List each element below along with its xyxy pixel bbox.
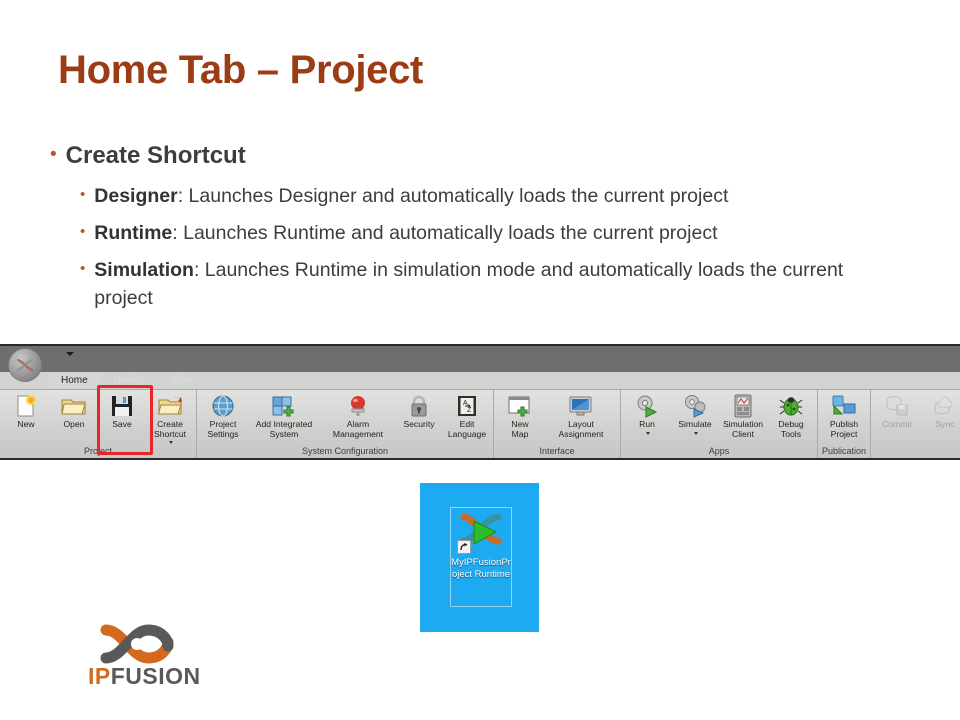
bullet-dot-icon: • [80, 182, 85, 208]
bullet-body: : Launches Runtime and automatically loa… [172, 222, 717, 244]
alarm-bell-icon [345, 393, 371, 419]
ribbon-button-layout-assignment[interactable]: Layout Assignment [544, 390, 618, 439]
desktop-screenshot: MyIPFusionProject Runtime [420, 483, 539, 632]
ribbon-tabs: Home Design View [48, 372, 205, 389]
ipfusion-logo-mark: IPFUSION [88, 624, 206, 690]
bullet-level2: • Runtime: Launches Runtime and automati… [80, 219, 930, 247]
bullet-level2: • Designer: Launches Designer and automa… [80, 182, 930, 210]
ribbon-group-publication: Publish Project Publication [818, 390, 871, 460]
ribbon-button-label: New Map [511, 420, 528, 439]
new-map-icon [507, 393, 533, 419]
ipfusion-runtime-shortcut-icon [457, 511, 505, 555]
bullet-list: • Create Shortcut • Designer: Launches D… [50, 142, 930, 321]
bullet-level2: • Simulation: Launches Runtime in simula… [80, 256, 930, 312]
ribbon-button-security[interactable]: Security [395, 390, 443, 430]
ribbon-group-apps: Run Simulate [621, 390, 818, 460]
bullet-level1: • Create Shortcut [50, 142, 930, 170]
bullet-level2-text: Simulation: Launches Runtime in simulati… [94, 256, 904, 312]
ribbon-button-project-settings[interactable]: Project Settings [199, 390, 247, 439]
ribbon-button-label: Sync [935, 420, 954, 430]
ribbon-button-new[interactable]: New [2, 390, 50, 430]
ribbon-group-project: New Open [0, 390, 197, 460]
bug-icon [778, 393, 804, 419]
quick-access-caret-icon[interactable] [66, 352, 74, 356]
create-shortcut-icon [157, 393, 183, 419]
ribbon-button-simulate[interactable]: Simulate [671, 390, 719, 436]
padlock-icon [406, 393, 432, 419]
ribbon-button-alarm-management[interactable]: Alarm Management [321, 390, 395, 439]
ribbon-button-debug-tools[interactable]: Debug Tools [767, 390, 815, 439]
ribbon-button-label: Layout Assignment [559, 420, 604, 439]
ribbon-button-label: Alarm Management [333, 420, 383, 439]
tab-home[interactable]: Home [48, 372, 101, 389]
tab-view[interactable]: View [158, 372, 206, 389]
ribbon-button-label: Create Shortcut [154, 420, 186, 439]
dropdown-caret-icon[interactable] [692, 430, 698, 436]
bullet-level2-text: Designer: Launches Designer and automati… [94, 182, 728, 210]
globe-icon [210, 393, 236, 419]
simulate-gear-icon [682, 393, 708, 419]
bullet-level1-text: Create Shortcut [66, 142, 246, 170]
open-folder-icon [61, 393, 87, 419]
publish-icon [831, 393, 857, 419]
dropdown-caret-icon[interactable] [644, 430, 650, 436]
svg-text:IPFUSION: IPFUSION [88, 663, 201, 689]
application-button[interactable] [8, 348, 42, 382]
ribbon-group-label: Project [2, 445, 194, 458]
ribbon-button-publish-project[interactable]: Publish Project [820, 390, 868, 439]
ribbon-button-add-integrated-system[interactable]: Add Integrated System [247, 390, 321, 439]
ribbon-group-label: System Configuration [199, 445, 491, 458]
bullet-level2-text: Runtime: Launches Runtime and automatica… [94, 219, 717, 247]
bullet-dot-icon: • [50, 142, 57, 168]
ribbon-titlebar [0, 346, 960, 372]
ribbon-group-interface: New Map Layout Assignment [494, 390, 621, 460]
ribbon-screenshot: Home Design View New [0, 344, 960, 460]
ribbon-group-label: Apps [623, 445, 815, 458]
bullet-dot-icon: • [80, 219, 85, 245]
run-gear-icon [634, 393, 660, 419]
ipfusion-orb-icon [14, 358, 36, 372]
ribbon-button-sync[interactable]: Sync [921, 390, 960, 430]
desktop-shortcut[interactable]: MyIPFusionProject Runtime [450, 507, 512, 607]
ribbon-button-label: New [17, 420, 34, 430]
bullet-body: : Launches Runtime in simulation mode an… [94, 259, 843, 309]
ribbon-button-run[interactable]: Run [623, 390, 671, 436]
bullet-label: Designer [94, 185, 177, 207]
az-book-icon: A Z [454, 393, 480, 419]
ribbon-group-system-configuration: Project Settings Add Integrated System [197, 390, 494, 460]
ribbon-button-simulation-client[interactable]: Simulation Client [719, 390, 767, 439]
ribbon-button-label: Simulate [678, 420, 711, 430]
ipfusion-logo: IPFUSION [88, 624, 238, 690]
bullet-label: Simulation [94, 259, 194, 281]
layout-monitor-icon [568, 393, 594, 419]
svg-text:Z: Z [467, 407, 472, 414]
ribbon-button-label: Edit Language [448, 420, 486, 439]
new-document-icon [13, 393, 39, 419]
sync-cloud-icon [932, 393, 958, 419]
ribbon-button-label: Save [112, 420, 132, 430]
ribbon-button-label: Project Settings [207, 420, 238, 439]
ribbon-group-label: Version Control [873, 445, 960, 458]
simulation-client-icon [730, 393, 756, 419]
ribbon-group-label: Publication [820, 445, 868, 458]
tab-design[interactable]: Design [101, 372, 158, 389]
bullet-body: : Launches Designer and automatically lo… [178, 185, 729, 207]
ribbon-button-label: Security [403, 420, 434, 430]
ribbon-button-label: Add Integrated System [256, 420, 312, 439]
ribbon-button-label: Open [63, 420, 84, 430]
ribbon-button-label: Simulation Client [723, 420, 763, 439]
ribbon-button-commit[interactable]: Commit [873, 390, 921, 430]
bullet-label: Runtime [94, 222, 172, 244]
ribbon-button-label: Debug Tools [778, 420, 803, 439]
ribbon-button-save[interactable]: Save [98, 390, 146, 430]
ribbon-button-label: Run [639, 420, 655, 430]
bullet-dot-icon: • [80, 256, 85, 282]
ribbon-button-label: Commit [882, 420, 912, 430]
ribbon-button-edit-language[interactable]: A Z Edit Language [443, 390, 491, 439]
shortcut-arrow-badge [457, 540, 471, 554]
ribbon-button-create-shortcut[interactable]: Create Shortcut [146, 390, 194, 445]
ribbon-button-open[interactable]: Open [50, 390, 98, 430]
ribbon-button-new-map[interactable]: New Map [496, 390, 544, 439]
slide: Home Tab – Project • Create Shortcut • D… [0, 0, 960, 720]
ribbon-group-label: Interface [496, 445, 618, 458]
ribbon-body: New Open [0, 389, 960, 460]
desktop-shortcut-label: MyIPFusionProject Runtime [450, 557, 512, 580]
page-title: Home Tab – Project [58, 48, 423, 93]
ribbon-button-label: Publish Project [830, 420, 858, 439]
commit-icon [884, 393, 910, 419]
ribbon-group-version-control: Commit Sync [871, 390, 960, 460]
add-system-icon [271, 393, 297, 419]
floppy-disk-icon [109, 393, 135, 419]
